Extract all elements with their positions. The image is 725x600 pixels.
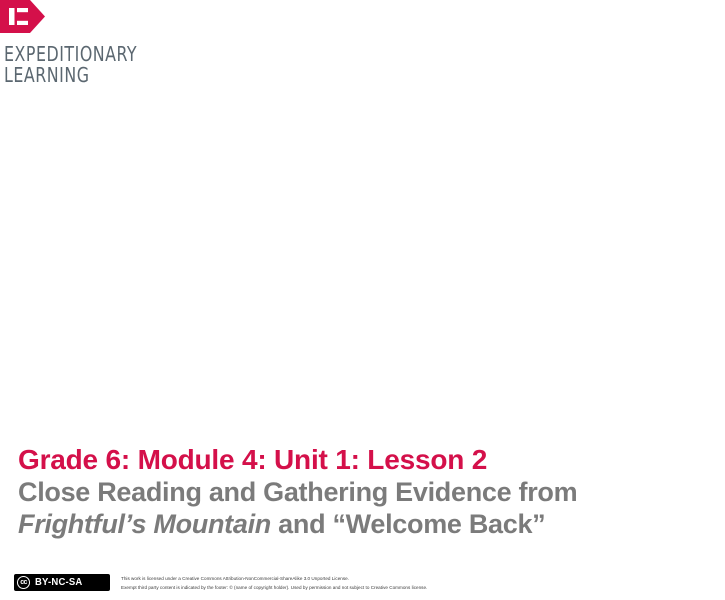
license-line-1: This work is licensed under a Creative C… (121, 574, 714, 583)
lesson-heading: Grade 6: Module 4: Unit 1: Lesson 2 (18, 443, 725, 476)
brand-wordmark-line2: LEARNING (4, 63, 89, 87)
title-block: Grade 6: Module 4: Unit 1: Lesson 2 Clos… (18, 443, 725, 540)
subtitle-text-secondary: and “Welcome Back” (271, 509, 545, 539)
subtitle-text-primary: Close Reading and Gathering Evidence fro… (18, 477, 577, 507)
license-line-2: Exempt third party content is indicated … (121, 583, 714, 592)
brand-wordmark: EXPEDITIONARY LEARNING (4, 44, 194, 86)
creative-commons-icon: cc (17, 576, 30, 589)
license-code-label: BY-NC-SA (35, 577, 82, 588)
creative-commons-badge[interactable]: cc BY-NC-SA (14, 574, 110, 591)
expeditionary-learning-arrow-mark-icon (0, 0, 45, 33)
subtitle-line-1: Close Reading and Gathering Evidence fro… (18, 476, 725, 508)
license-text-block: This work is licensed under a Creative C… (121, 574, 714, 593)
subtitle-line-2: Frightful’s Mountain and “Welcome Back” (18, 508, 725, 540)
book-title-frightfuls-mountain: Frightful’s Mountain (18, 509, 271, 539)
slide-body-empty-area (0, 110, 725, 435)
brand-logo-block: EXPEDITIONARY LEARNING (0, 0, 220, 86)
license-footer: cc BY-NC-SA This work is licensed under … (14, 574, 714, 593)
